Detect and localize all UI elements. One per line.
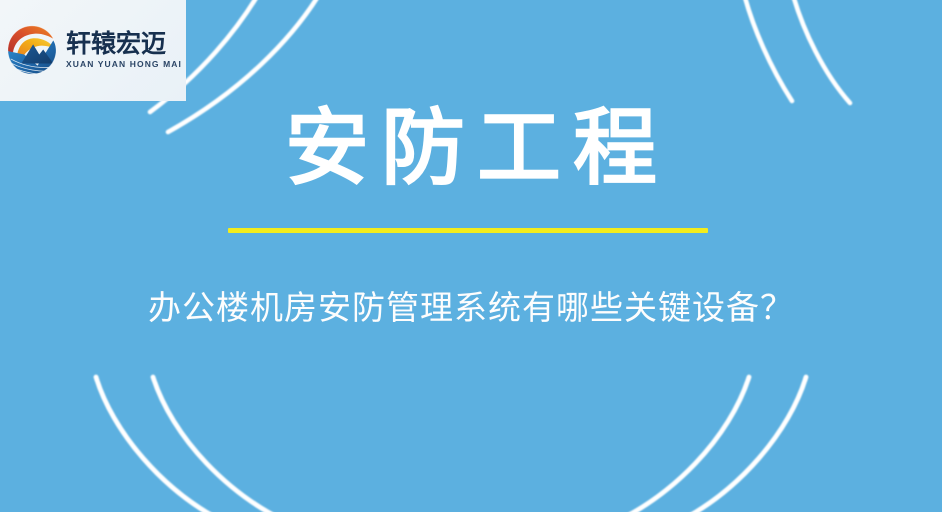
title-divider (228, 228, 708, 233)
banner-root: 安防工程 办公楼机房安防管理系统有哪些关键设备？ (0, 0, 942, 512)
logo-lockup: 轩辕宏迈 XUAN YUAN HONG MAI (4, 22, 182, 78)
company-logo-icon (4, 22, 60, 78)
logo-wordmark: 轩辕宏迈 XUAN YUAN HONG MAI (66, 31, 182, 69)
logo-company-name-cn: 轩辕宏迈 (66, 31, 182, 56)
logo-panel[interactable]: 轩辕宏迈 XUAN YUAN HONG MAI (0, 0, 186, 101)
page-subtitle: 办公楼机房安防管理系统有哪些关键设备？ (0, 288, 942, 328)
logo-company-name-en: XUAN YUAN HONG MAI (66, 60, 182, 69)
page-title: 安防工程 (0, 104, 942, 192)
